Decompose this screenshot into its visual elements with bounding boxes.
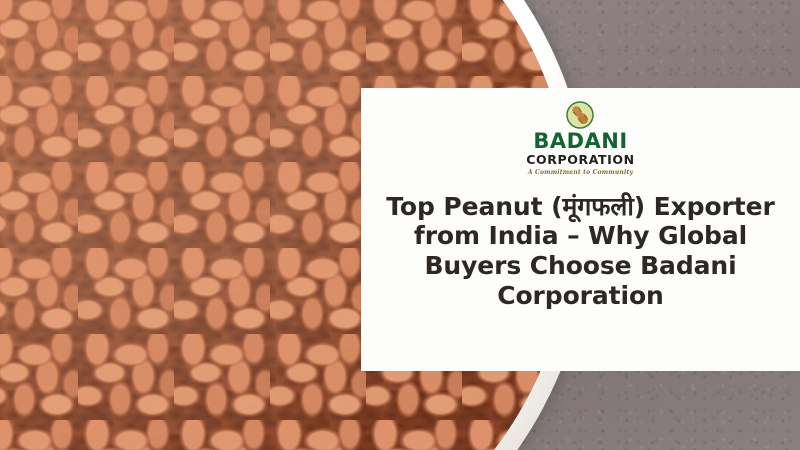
peanut-in-circle-icon — [565, 100, 595, 130]
logo-tagline: A Commitment to Community — [528, 169, 633, 176]
headline-card: BADANI CORPORATION A Commitment to Commu… — [361, 88, 800, 371]
badani-corporation-logo: BADANI CORPORATION A Commitment to Commu… — [526, 100, 634, 176]
logo-wordmark: BADANI — [533, 131, 627, 152]
peanut-icon — [565, 100, 595, 130]
page-title: Top Peanut (मूंगफली) Exporter from India… — [381, 192, 781, 311]
logo-subtitle: CORPORATION — [526, 153, 634, 166]
blog-hero-banner: BADANI CORPORATION A Commitment to Commu… — [0, 0, 800, 450]
